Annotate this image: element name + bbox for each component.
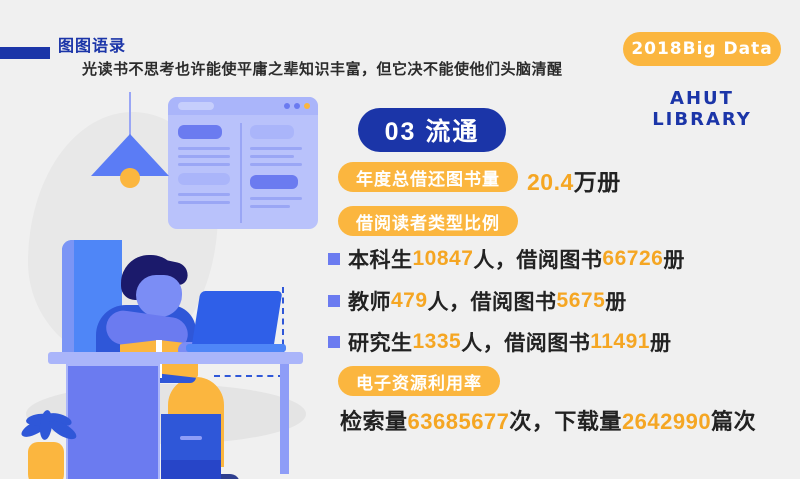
reader-stat-count: 479 — [391, 289, 428, 313]
infographic-poster: 图图语录 光读书不思考也许能使平庸之辈知识丰富，但它决不能使他们头脑清醒 201… — [0, 0, 800, 479]
browser-line — [250, 197, 302, 200]
cabinet-drawer-top — [161, 414, 221, 460]
bullet-square-icon — [328, 253, 340, 265]
browser-line — [178, 147, 230, 150]
desk-top — [48, 352, 303, 364]
reader-stat-count-unit: 人， — [461, 327, 504, 357]
section-title: 03 流通 — [385, 112, 480, 148]
quote-title: 图图语录 — [58, 32, 126, 56]
browser-block — [178, 173, 230, 185]
total-circulation-value: 20.4万册 — [527, 163, 621, 197]
eresource-search-unit: 次， — [509, 409, 554, 434]
browser-block — [250, 125, 294, 139]
eresource-search-count: 63685677 — [408, 409, 510, 434]
reader-stat-borrow-label: 借阅图书 — [504, 327, 590, 357]
reader-stat-borrow-unit: 册 — [605, 286, 627, 316]
dashed-connector-horizontal — [214, 375, 284, 377]
eresource-download-label: 下载量 — [554, 409, 622, 434]
total-circulation-unit: 万册 — [574, 169, 621, 195]
reader-stat-row: 教师479人，借阅图书5675册 — [328, 286, 627, 316]
reader-stat-row: 研究生1335人，借阅图书11491册 — [328, 327, 671, 357]
reader-stat-borrow-unit: 册 — [650, 327, 672, 357]
reader-stat-label: 教师 — [348, 286, 391, 316]
reader-stat-label: 本科生 — [348, 244, 413, 274]
eresource-search-label: 检索量 — [340, 409, 408, 434]
bullet-square-icon — [328, 336, 340, 348]
reader-stat-borrow-label: 借阅图书 — [471, 286, 557, 316]
browser-block — [178, 125, 222, 139]
lamp-bulb-icon — [120, 168, 140, 188]
brand-subtitle: AHUT LIBRARY — [623, 88, 781, 130]
browser-line — [250, 163, 302, 166]
reader-stat-row: 本科生10847人，借阅图书66726册 — [328, 244, 685, 274]
browser-window-graphic — [168, 97, 318, 229]
tag-total-circulation: 年度总借还图书量 — [338, 162, 518, 192]
browser-line — [178, 155, 230, 158]
desk-leg — [280, 364, 289, 474]
plant-vase — [28, 442, 64, 479]
reader-stat-count: 10847 — [413, 247, 474, 271]
brand-pill-label: 2018Big Data — [631, 39, 772, 59]
brand-pill: 2018Big Data — [623, 32, 781, 66]
cabinet-drawer-bottom — [161, 460, 221, 479]
person-face — [136, 275, 182, 317]
quote-text: 光读书不思考也许能使平庸之辈知识丰富，但它决不能使他们头脑清醒 — [82, 58, 563, 79]
total-circulation-number: 20.4 — [527, 169, 574, 195]
laptop-screen — [192, 291, 283, 347]
browser-line — [250, 155, 294, 158]
tag-reader-type-ratio: 借阅读者类型比例 — [338, 206, 518, 236]
header-accent-bar — [0, 47, 50, 59]
tag-eresource-usage-label: 电子资源利用率 — [356, 369, 482, 394]
browser-block — [250, 175, 298, 189]
chair-side — [62, 240, 74, 352]
shelf-panel — [66, 364, 160, 479]
reader-stat-label: 研究生 — [348, 327, 413, 357]
section-pill: 03 流通 — [358, 108, 506, 152]
illustration-reader-at-desk — [18, 92, 318, 462]
drawer-handle — [180, 436, 202, 440]
browser-line — [250, 205, 290, 208]
browser-column-divider — [240, 123, 242, 223]
browser-dot-icon — [294, 103, 300, 109]
browser-dot-icon — [304, 103, 310, 109]
browser-titlebar — [168, 97, 318, 115]
reader-stat-borrow-label: 借阅图书 — [516, 244, 602, 274]
reader-stat-count-unit: 人， — [473, 244, 516, 274]
browser-line — [178, 201, 230, 204]
tag-reader-type-ratio-label: 借阅读者类型比例 — [356, 209, 500, 234]
bullet-square-icon — [328, 295, 340, 307]
reader-stat-count-unit: 人， — [428, 286, 471, 316]
lamp-cord — [129, 92, 131, 137]
eresource-download-count: 2642990 — [622, 409, 711, 434]
browser-line — [178, 163, 230, 166]
browser-line — [250, 147, 302, 150]
laptop-base — [186, 344, 286, 352]
tag-eresource-usage: 电子资源利用率 — [338, 366, 500, 396]
browser-tab — [178, 102, 214, 110]
reader-stat-borrow-unit: 册 — [663, 244, 685, 274]
tag-total-circulation-label: 年度总借还图书量 — [356, 165, 500, 190]
reader-stat-borrow-count: 66726 — [602, 247, 663, 271]
browser-dot-icon — [284, 103, 290, 109]
reader-stat-borrow-count: 11491 — [590, 330, 650, 354]
eresource-stat-line: 检索量63685677次，下载量2642990篇次 — [340, 404, 756, 436]
browser-line — [178, 193, 230, 196]
reader-stat-count: 1335 — [413, 330, 462, 354]
eresource-download-unit: 篇次 — [711, 409, 756, 434]
reader-stat-borrow-count: 5675 — [557, 289, 606, 313]
